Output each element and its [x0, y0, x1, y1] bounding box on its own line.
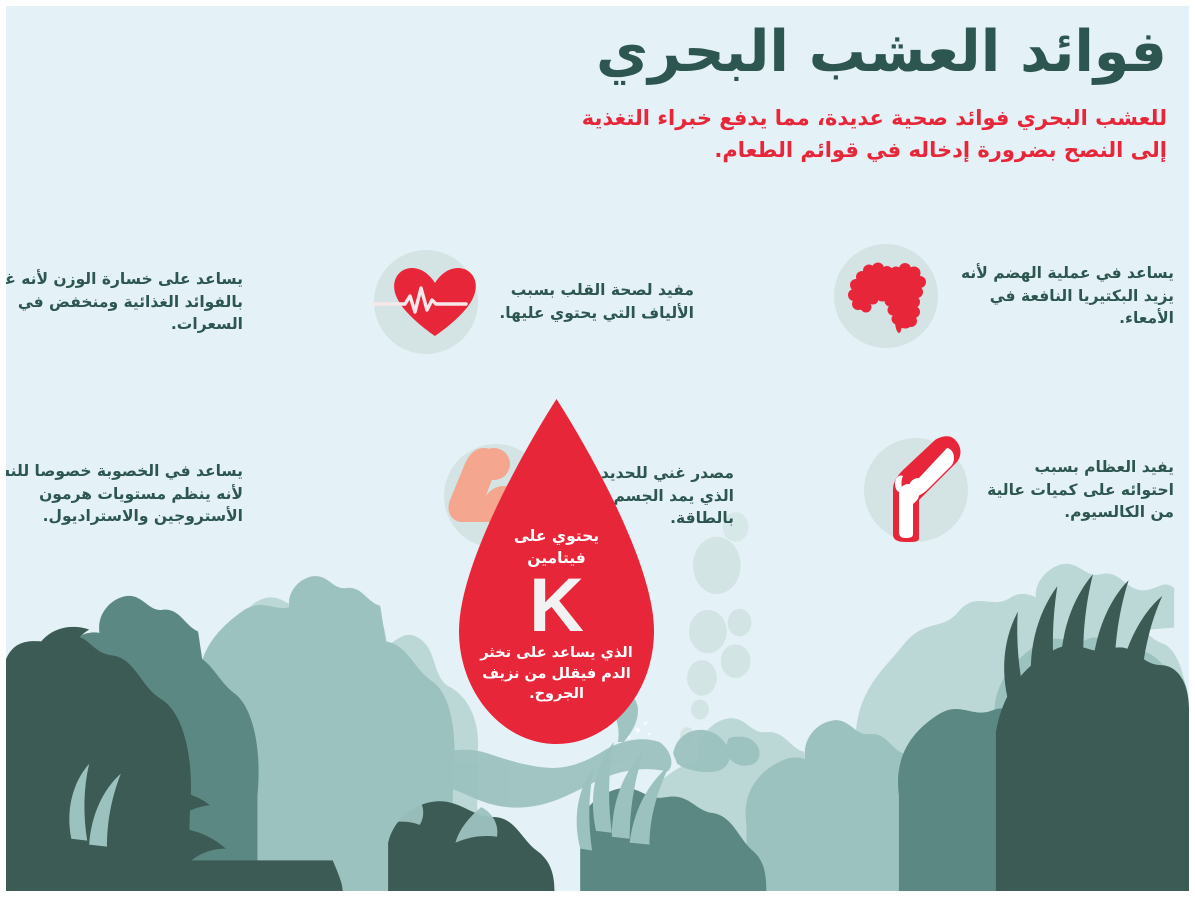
benefit-bones-text: يفيد العظام بسبب احتوائه على كميات عالية… — [968, 456, 1174, 525]
drop-bottom-text: الذي يساعد على تخثر الدم فيقلل من نزيف ا… — [459, 643, 654, 705]
vitamin-letter: K — [529, 571, 584, 641]
heart-pulse-icon — [374, 266, 478, 338]
benefit-item-fertility: يساعد في الخصوبة خصوصا للنساء لأنه ينظم … — [0, 442, 243, 546]
benefit-item-weight: يساعد على خسارة الوزن لأنه غني بالفوائد … — [0, 250, 243, 354]
benefit-weight-text: يساعد على خسارة الوزن لأنه غني بالفوائد … — [0, 268, 243, 337]
vitamin-k-drop: يحتوي على فيتامين K الذي يساعد على تخثر … — [459, 399, 654, 744]
benefit-digestion-icon-plate — [834, 244, 938, 348]
benefit-item-heart: مفيد لصحة القلب بسبب الألياف التي يحتوي … — [374, 250, 694, 354]
benefit-fertility-text: يساعد في الخصوبة خصوصا للنساء لأنه ينظم … — [0, 460, 243, 529]
intestine-icon — [847, 257, 925, 335]
poster-header: فوائد العشب البحري للعشب البحري فوائد صح… — [547, 22, 1167, 167]
benefit-digestion-text: يساعد في عملية الهضم لأنه يزيد البكتيريا… — [938, 262, 1174, 331]
page-subtitle: للعشب البحري فوائد صحية عديدة، مما يدفع … — [547, 102, 1167, 167]
benefit-item-bones: يفيد العظام بسبب احتوائه على كميات عالية… — [864, 438, 1174, 542]
benefit-heart-text: مفيد لصحة القلب بسبب الألياف التي يحتوي … — [478, 279, 694, 325]
benefit-bones-icon-plate — [864, 438, 968, 542]
infographic-poster: فوائد العشب البحري للعشب البحري فوائد صح… — [0, 0, 1195, 897]
page-title: فوائد العشب البحري — [547, 22, 1167, 84]
drop-top-text-line1: يحتوي على — [514, 526, 599, 547]
knee-bone-icon — [869, 438, 963, 542]
benefit-heart-icon-plate — [374, 250, 478, 354]
benefit-item-digestion: يساعد في عملية الهضم لأنه يزيد البكتيريا… — [834, 244, 1174, 348]
